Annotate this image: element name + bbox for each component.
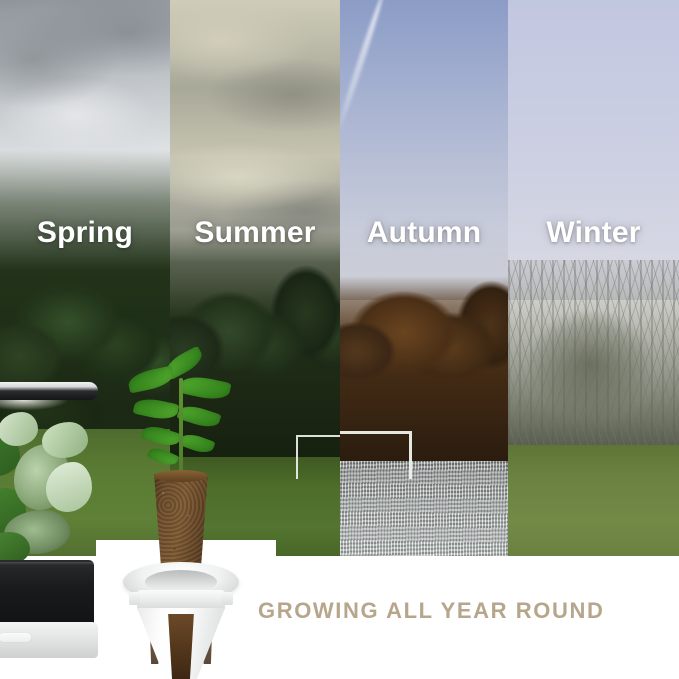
summer-sky xyxy=(170,0,340,340)
banner-canvas: Spring Summer Autumn Winter xyxy=(0,0,679,679)
grow-pod-soil-top xyxy=(154,470,208,482)
summer-goal-post xyxy=(296,435,340,479)
winter-bare-trees xyxy=(508,260,679,447)
seedling-leaf xyxy=(178,373,231,403)
tagline: GROWING ALL YEAR ROUND xyxy=(258,598,658,624)
device-reservoir-body xyxy=(0,560,94,626)
device-led-light-bar xyxy=(0,382,98,400)
device-light-glow xyxy=(0,400,92,418)
season-label-spring: Spring xyxy=(0,216,170,250)
spring-sky xyxy=(0,0,170,330)
season-label-winter: Winter xyxy=(508,216,679,250)
seedling xyxy=(118,352,244,484)
seedling-leaf xyxy=(127,365,176,393)
seedling-leaf xyxy=(133,396,180,423)
herb-cluster xyxy=(0,402,96,564)
herb-leaf xyxy=(46,462,92,512)
seedling-leaf xyxy=(147,444,180,468)
autumn-sky xyxy=(340,0,508,300)
season-label-autumn: Autumn xyxy=(340,216,508,250)
device-control-button[interactable] xyxy=(0,632,32,643)
seedling-leaf xyxy=(178,431,215,457)
seedling-leaf xyxy=(140,423,181,450)
hydroponic-garden-device xyxy=(0,382,98,652)
winter-grass-field xyxy=(508,445,679,557)
seedling-stem xyxy=(179,378,183,484)
herb-leaf xyxy=(42,422,88,458)
pod-basket-tab xyxy=(129,592,140,605)
season-label-summer: Summer xyxy=(170,216,340,250)
pod-basket-tab xyxy=(222,592,233,605)
autumn-goal-post xyxy=(340,431,412,479)
seasons-band: Spring Summer Autumn Winter xyxy=(0,0,679,557)
season-panel-winter[interactable]: Winter xyxy=(508,0,679,557)
winter-sky xyxy=(508,0,679,300)
season-panel-autumn[interactable]: Autumn xyxy=(340,0,508,557)
grow-pod-unit xyxy=(118,352,244,679)
seedling-leaf xyxy=(176,402,221,431)
aircraft-contrail xyxy=(340,0,385,139)
